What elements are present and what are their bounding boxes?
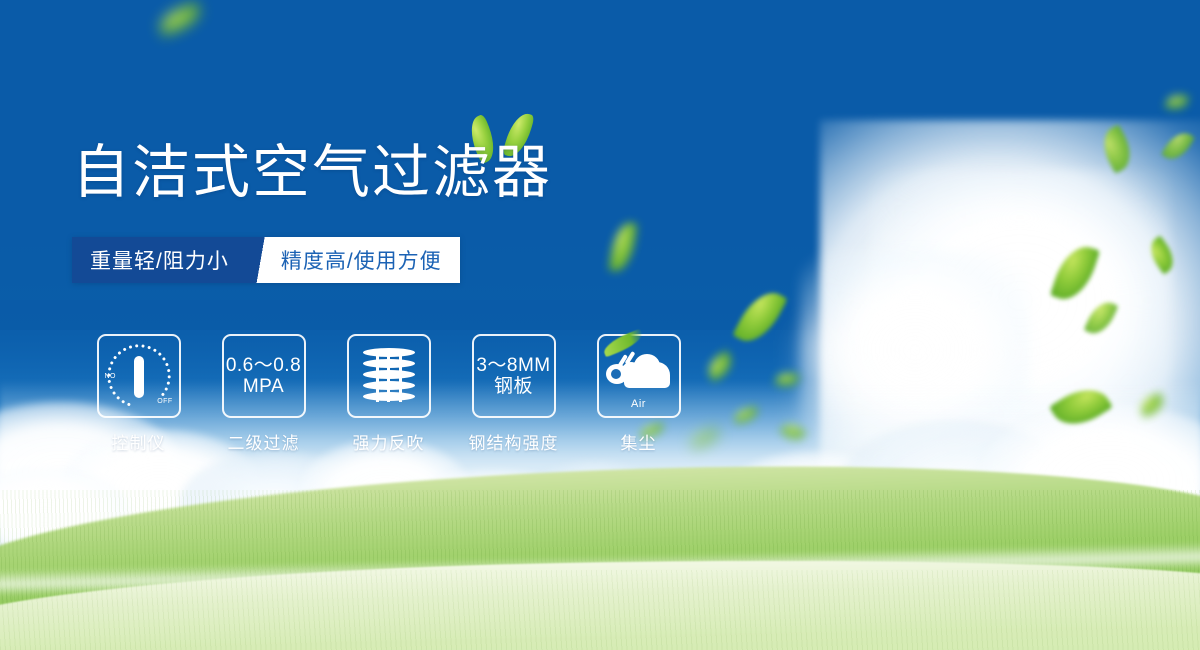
feature-icon-box: 0.6～0.8 MPA <box>222 334 306 418</box>
filter-coil-icon <box>363 346 415 406</box>
feature-item-controller[interactable]: NO OFF 控制仪 <box>76 334 201 454</box>
subtitle-right-segment: 精度高/使用方便 <box>275 237 460 283</box>
gauge-label-off: OFF <box>157 398 172 405</box>
feature-icon-box: Air <box>597 334 681 418</box>
air-label: Air <box>606 398 672 410</box>
feature-icon-box: 3～8MM 钢板 <box>472 334 556 418</box>
product-banner: 自洁式空气过滤器 重量轻/阻力小 精度高/使用方便 <box>0 0 1200 650</box>
grass-texture-front <box>0 570 1200 650</box>
cloud-body <box>624 362 670 388</box>
feature-item-dust-collection[interactable]: Air 集尘 <box>576 334 701 454</box>
feature-icon-box: NO OFF <box>97 334 181 418</box>
feature-item-back-blow[interactable]: 强力反吹 <box>326 334 451 454</box>
feature-list: NO OFF 控制仪 0.6～0.8 MPA 二级过滤 <box>76 334 701 454</box>
feature-label: 强力反吹 <box>353 429 425 454</box>
feature-label: 钢结构强度 <box>469 429 559 454</box>
air-cloud-icon: Air <box>606 348 672 404</box>
gauge-icon: NO OFF <box>106 345 172 407</box>
feature-item-steel-strength[interactable]: 3～8MM 钢板 钢结构强度 <box>451 334 576 454</box>
steel-icon-thickness: 3～8MM <box>476 355 550 376</box>
steel-icon-material: 钢板 <box>494 376 533 397</box>
pressure-icon-unit: MPA <box>243 376 284 397</box>
cloud-small-circle-hole <box>611 369 621 379</box>
subtitle-left-segment: 重量轻/阻力小 <box>72 237 249 283</box>
pressure-icon-value: 0.6～0.8 <box>226 355 301 376</box>
feature-icon-box <box>347 334 431 418</box>
subtitle-bar: 重量轻/阻力小 精度高/使用方便 <box>72 237 460 283</box>
gauge-label-on: NO <box>105 373 116 380</box>
subtitle-wedge-divider <box>249 237 275 283</box>
feature-item-two-stage-filter[interactable]: 0.6～0.8 MPA 二级过滤 <box>201 334 326 454</box>
feature-label: 集尘 <box>621 429 657 454</box>
page-title: 自洁式空气过滤器 <box>72 144 552 202</box>
gauge-needle <box>134 356 144 398</box>
feature-label: 二级过滤 <box>228 429 300 454</box>
feature-label: 控制仪 <box>112 429 166 454</box>
